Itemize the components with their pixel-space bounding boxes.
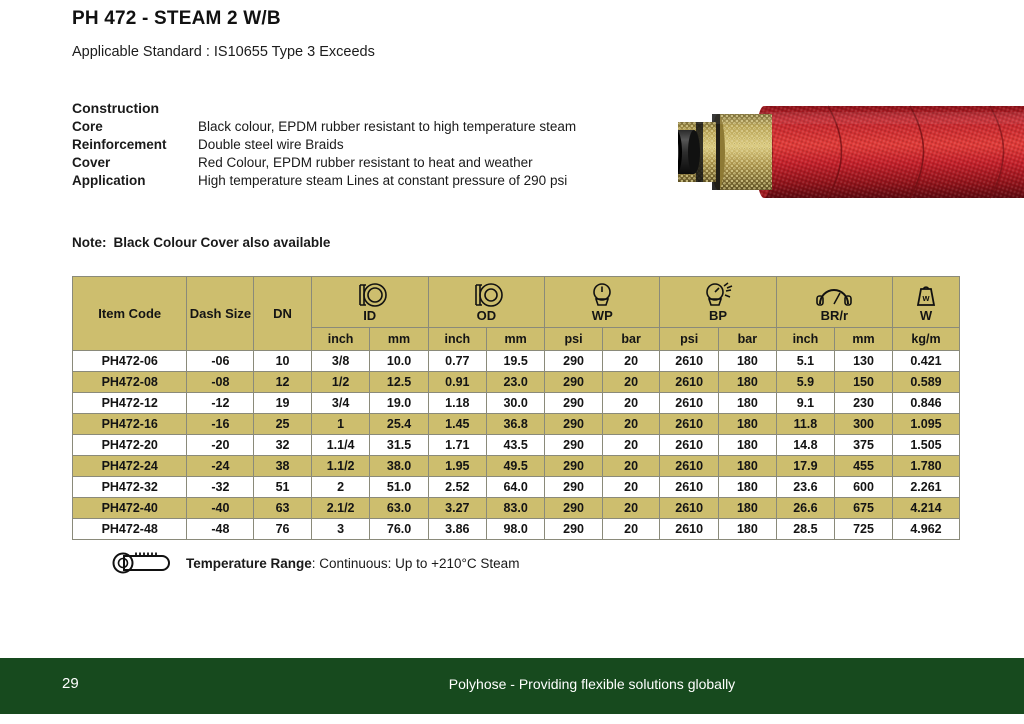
subcol-wp-bar: bar [602, 328, 659, 351]
table-cell: 19.5 [487, 351, 545, 372]
table-cell: 76 [254, 519, 311, 540]
table-cell: PH472-48 [73, 519, 187, 540]
table-cell: 20 [602, 372, 659, 393]
table-cell: 180 [719, 519, 777, 540]
col-group-id: ID [311, 277, 428, 328]
table-row: PH472-20-20321.1/431.51.7143.52902026101… [73, 435, 960, 456]
table-cell: 150 [835, 372, 893, 393]
table-cell: PH472-20 [73, 435, 187, 456]
construction-value: Red Colour, EPDM rubber resistant to hea… [198, 155, 533, 170]
table-cell: 49.5 [487, 456, 545, 477]
construction-value: High temperature steam Lines at constant… [198, 173, 567, 188]
table-cell: 290 [545, 393, 603, 414]
table-cell: 180 [719, 393, 777, 414]
table-cell: 455 [835, 456, 893, 477]
table-cell: 43.5 [487, 435, 545, 456]
table-cell: 76.0 [370, 519, 428, 540]
construction-key: Cover [72, 155, 198, 170]
hose-product-image [678, 92, 1024, 204]
table-cell: -48 [187, 519, 254, 540]
table-cell: 2610 [660, 414, 719, 435]
table-cell: 30.0 [487, 393, 545, 414]
table-cell: 5.9 [776, 372, 834, 393]
subcol-id-mm: mm [370, 328, 428, 351]
subcol-weight-kgm: kg/m [892, 328, 959, 351]
footer-tagline: Polyhose - Providing flexible solutions … [0, 676, 1024, 692]
table-cell: PH472-32 [73, 477, 187, 498]
table-cell: 63.0 [370, 498, 428, 519]
datasheet-page: PH 472 - STEAM 2 W/B Applicable Standard… [0, 0, 1024, 724]
subcol-bp-psi: psi [660, 328, 719, 351]
table-cell: 180 [719, 435, 777, 456]
thermometer-icon [110, 550, 172, 576]
subcol-od-mm: mm [487, 328, 545, 351]
table-cell: 20 [602, 435, 659, 456]
table-cell: 26.6 [776, 498, 834, 519]
table-cell: 375 [835, 435, 893, 456]
table-cell: 2.261 [892, 477, 959, 498]
construction-row-application: Application High temperature steam Lines… [72, 173, 576, 188]
construction-row-reinforcement: Reinforcement Double steel wire Braids [72, 137, 576, 152]
table-cell: PH472-40 [73, 498, 187, 519]
table-cell: -12 [187, 393, 254, 414]
table-cell: 2610 [660, 456, 719, 477]
table-cell: 2610 [660, 498, 719, 519]
table-cell: 5.1 [776, 351, 834, 372]
table-cell: 2610 [660, 519, 719, 540]
table-cell: 10 [254, 351, 311, 372]
table-cell: 2.1/2 [311, 498, 370, 519]
table-cell: 290 [545, 435, 603, 456]
table-cell: PH472-08 [73, 372, 187, 393]
table-cell: 180 [719, 351, 777, 372]
table-row: PH472-40-40632.1/263.03.2783.02902026101… [73, 498, 960, 519]
table-cell: 25 [254, 414, 311, 435]
table-cell: 0.589 [892, 372, 959, 393]
table-cell: 4.962 [892, 519, 959, 540]
construction-heading: Construction [72, 100, 576, 116]
table-cell: 675 [835, 498, 893, 519]
note-label: Note: [72, 235, 107, 250]
table-header-group-row: Item Code Dash Size DN ID [73, 277, 960, 328]
table-cell: 1/2 [311, 372, 370, 393]
table-cell: 290 [545, 519, 603, 540]
note-line: Note:Black Colour Cover also available [72, 235, 330, 250]
table-cell: 9.1 [776, 393, 834, 414]
table-cell: 38 [254, 456, 311, 477]
col-group-bp-label: BP [660, 309, 775, 322]
table-cell: PH472-16 [73, 414, 187, 435]
table-cell: 290 [545, 498, 603, 519]
col-item-code: Item Code [73, 277, 187, 351]
table-header: Item Code Dash Size DN ID [73, 277, 960, 351]
table-cell: 20 [602, 498, 659, 519]
table-row: PH472-24-24381.1/238.01.9549.52902026101… [73, 456, 960, 477]
table-cell: 180 [719, 456, 777, 477]
specification-table: Item Code Dash Size DN ID [72, 276, 960, 540]
table-row: PH472-32-3251251.02.5264.029020261018023… [73, 477, 960, 498]
table-cell: -06 [187, 351, 254, 372]
table-cell: 290 [545, 372, 603, 393]
table-cell: 1.095 [892, 414, 959, 435]
table-cell: 130 [835, 351, 893, 372]
table-row: PH472-48-4876376.03.8698.029020261018028… [73, 519, 960, 540]
table-cell: 1.71 [428, 435, 486, 456]
table-cell: 1.1/2 [311, 456, 370, 477]
table-cell: 25.4 [370, 414, 428, 435]
table-cell: 28.5 [776, 519, 834, 540]
hose-cutaway-illustration [678, 92, 1024, 204]
bend-radius-icon [814, 282, 854, 308]
col-group-wp-label: WP [545, 309, 659, 322]
table-cell: 83.0 [487, 498, 545, 519]
table-cell: 23.0 [487, 372, 545, 393]
table-cell: 2610 [660, 372, 719, 393]
table-cell: 3 [311, 519, 370, 540]
table-cell: -16 [187, 414, 254, 435]
table-cell: 290 [545, 477, 603, 498]
col-group-od: OD [428, 277, 545, 328]
table-row: PH472-16-1625125.41.4536.829020261018011… [73, 414, 960, 435]
svg-text:w: w [921, 293, 930, 303]
table-cell: 1.780 [892, 456, 959, 477]
table-cell: 1.505 [892, 435, 959, 456]
temperature-value: : Continuous: Up to +210°C Steam [312, 556, 520, 571]
table-cell: 1.95 [428, 456, 486, 477]
table-cell: 1.1/4 [311, 435, 370, 456]
table-cell: 36.8 [487, 414, 545, 435]
col-group-br-label: BR/r [777, 309, 892, 322]
table-cell: 98.0 [487, 519, 545, 540]
table-cell: 10.0 [370, 351, 428, 372]
table-cell: 180 [719, 477, 777, 498]
table-cell: PH472-06 [73, 351, 187, 372]
table-cell: 17.9 [776, 456, 834, 477]
page-title: PH 472 - STEAM 2 W/B [72, 8, 281, 30]
table-cell: 3.86 [428, 519, 486, 540]
table-cell: 2.52 [428, 477, 486, 498]
table-cell: 38.0 [370, 456, 428, 477]
table-cell: 20 [602, 393, 659, 414]
burst-pressure-gauge-icon [701, 282, 735, 308]
table-cell: 180 [719, 414, 777, 435]
table-cell: 0.77 [428, 351, 486, 372]
table-row: PH472-08-08121/212.50.9123.0290202610180… [73, 372, 960, 393]
table-cell: 20 [602, 519, 659, 540]
table-cell: 2610 [660, 477, 719, 498]
table-cell: 290 [545, 414, 603, 435]
table-row: PH472-12-12193/419.01.1830.0290202610180… [73, 393, 960, 414]
table-cell: -08 [187, 372, 254, 393]
table-cell: 51 [254, 477, 311, 498]
table-cell: 3/4 [311, 393, 370, 414]
temperature-label: Temperature Range [186, 556, 312, 571]
subcol-id-inch: inch [311, 328, 370, 351]
table-cell: 20 [602, 414, 659, 435]
subcol-wp-psi: psi [545, 328, 603, 351]
subcol-bp-bar: bar [719, 328, 777, 351]
table-cell: 0.421 [892, 351, 959, 372]
table-cell: 3.27 [428, 498, 486, 519]
table-cell: 20 [602, 351, 659, 372]
note-text: Black Colour Cover also available [114, 235, 331, 250]
table-cell: 2 [311, 477, 370, 498]
inner-diameter-icon [350, 282, 390, 308]
table-cell: -32 [187, 477, 254, 498]
col-group-od-label: OD [429, 309, 545, 322]
table-cell: 19 [254, 393, 311, 414]
construction-key: Core [72, 119, 198, 134]
table-cell: 300 [835, 414, 893, 435]
table-cell: 180 [719, 372, 777, 393]
col-group-br: BR/r [776, 277, 892, 328]
weight-icon: w [913, 282, 939, 308]
subcol-br-inch: inch [776, 328, 834, 351]
table-row: PH472-06-06103/810.00.7719.5290202610180… [73, 351, 960, 372]
working-pressure-gauge-icon [587, 282, 617, 308]
table-cell: 12 [254, 372, 311, 393]
table-cell: 20 [602, 456, 659, 477]
construction-block: Construction Core Black colour, EPDM rub… [72, 100, 576, 191]
table-cell: 1.45 [428, 414, 486, 435]
table-cell: -20 [187, 435, 254, 456]
table-cell: 19.0 [370, 393, 428, 414]
applicable-standard: Applicable Standard : IS10655 Type 3 Exc… [72, 44, 375, 60]
table-cell: 3/8 [311, 351, 370, 372]
table-cell: 290 [545, 456, 603, 477]
subcol-br-mm: mm [835, 328, 893, 351]
table-cell: 32 [254, 435, 311, 456]
table-cell: 600 [835, 477, 893, 498]
construction-row-core: Core Black colour, EPDM rubber resistant… [72, 119, 576, 134]
temperature-range-line: Temperature Range: Continuous: Up to +21… [110, 550, 519, 576]
table-cell: 31.5 [370, 435, 428, 456]
table-cell: 14.8 [776, 435, 834, 456]
col-dn: DN [254, 277, 311, 351]
table-cell: 4.214 [892, 498, 959, 519]
table-cell: PH472-12 [73, 393, 187, 414]
construction-value: Black colour, EPDM rubber resistant to h… [198, 119, 576, 134]
table-cell: 23.6 [776, 477, 834, 498]
outer-diameter-icon [466, 282, 506, 308]
construction-value: Double steel wire Braids [198, 137, 344, 152]
col-group-id-label: ID [312, 309, 428, 322]
construction-row-cover: Cover Red Colour, EPDM rubber resistant … [72, 155, 576, 170]
col-group-weight-label: W [893, 309, 959, 322]
construction-key: Reinforcement [72, 137, 198, 152]
table-cell: -24 [187, 456, 254, 477]
construction-key: Application [72, 173, 198, 188]
table-cell: PH472-24 [73, 456, 187, 477]
table-cell: 230 [835, 393, 893, 414]
table-cell: 2610 [660, 393, 719, 414]
table-cell: 180 [719, 498, 777, 519]
table-cell: 1 [311, 414, 370, 435]
table-cell: 0.846 [892, 393, 959, 414]
table-cell: 2610 [660, 435, 719, 456]
table-cell: 0.91 [428, 372, 486, 393]
table-cell: 12.5 [370, 372, 428, 393]
table-cell: 1.18 [428, 393, 486, 414]
table-cell: 725 [835, 519, 893, 540]
table-cell: 11.8 [776, 414, 834, 435]
col-group-wp: WP [545, 277, 660, 328]
table-cell: 20 [602, 477, 659, 498]
table-cell: -40 [187, 498, 254, 519]
table-cell: 63 [254, 498, 311, 519]
table-body: PH472-06-06103/810.00.7719.5290202610180… [73, 351, 960, 540]
page-footer: 29 Polyhose - Providing flexible solutio… [0, 658, 1024, 714]
col-group-bp: BP [660, 277, 776, 328]
table-cell: 51.0 [370, 477, 428, 498]
subcol-od-inch: inch [428, 328, 486, 351]
col-group-weight: w W [892, 277, 959, 328]
table-cell: 290 [545, 351, 603, 372]
table-cell: 64.0 [487, 477, 545, 498]
col-dash-size: Dash Size [187, 277, 254, 351]
table-cell: 2610 [660, 351, 719, 372]
temperature-text: Temperature Range: Continuous: Up to +21… [186, 556, 519, 571]
